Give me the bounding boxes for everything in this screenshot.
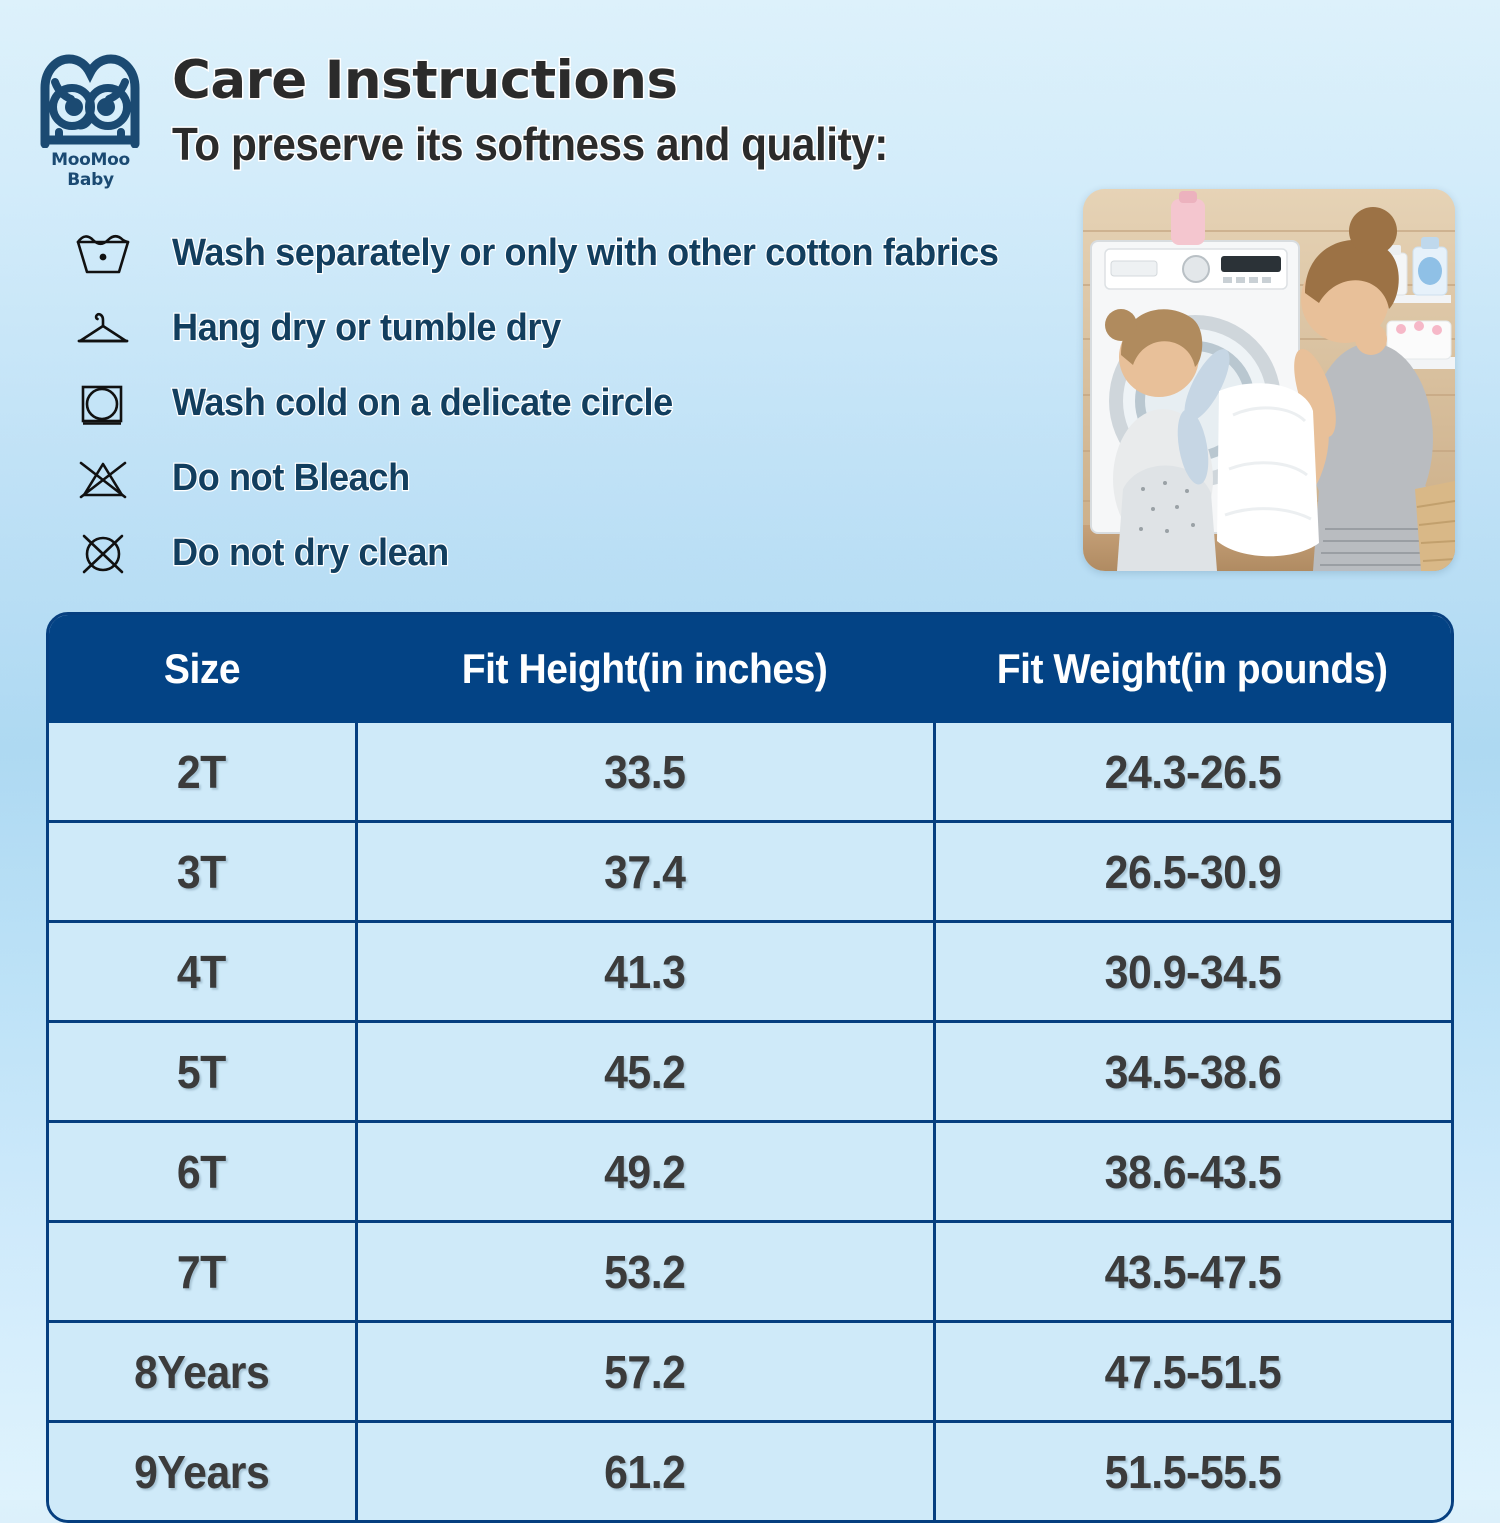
table-row: 2T 33.5 24.3-26.5 (49, 723, 1451, 822)
table-body: 2T 33.5 24.3-26.5 3T 37.4 26.5-30.9 4T 4… (49, 723, 1451, 1520)
cell-fit-weight: 51.5-55.5 (934, 1422, 1451, 1521)
cell-fit-weight: 43.5-47.5 (934, 1222, 1451, 1322)
cell-size: 7T (49, 1222, 356, 1322)
table-row: 8Years 57.2 47.5-51.5 (49, 1322, 1451, 1422)
brand-name: MooMoo Baby (28, 150, 153, 190)
cell-size: 9Years (49, 1422, 356, 1521)
cell-fit-height: 33.5 (356, 723, 934, 822)
care-instruction-item: Hang dry or tumble dry (72, 291, 1072, 366)
laundry-photo (1083, 189, 1455, 571)
cell-size: 2T (49, 723, 356, 822)
care-instruction-item: Wash cold on a delicate circle (72, 366, 1072, 441)
page-subtitle: To preserve its softness and quality: (172, 121, 888, 167)
table-row: 7T 53.2 43.5-47.5 (49, 1222, 1451, 1322)
column-header-size: Size (49, 615, 356, 723)
table-row: 6T 49.2 38.6-43.5 (49, 1122, 1451, 1222)
care-instruction-label: Do not dry clean (172, 532, 449, 575)
cell-fit-height: 57.2 (356, 1322, 934, 1422)
cell-fit-height: 41.3 (356, 922, 934, 1022)
column-header-fit-height: Fit Height(in inches) (356, 615, 934, 723)
care-instruction-item: Wash separately or only with other cotto… (72, 216, 1072, 291)
cell-size: 5T (49, 1022, 356, 1122)
table-row: 9Years 61.2 51.5-55.5 (49, 1422, 1451, 1521)
cell-fit-height: 45.2 (356, 1022, 934, 1122)
cell-fit-weight: 47.5-51.5 (934, 1322, 1451, 1422)
table-row: 4T 41.3 30.9-34.5 (49, 922, 1451, 1022)
cell-size: 3T (49, 822, 356, 922)
owl-logo-icon (28, 52, 153, 148)
cell-fit-weight: 30.9-34.5 (934, 922, 1451, 1022)
cell-fit-height: 53.2 (356, 1222, 934, 1322)
care-instruction-label: Wash cold on a delicate circle (172, 382, 673, 425)
table-row: 3T 37.4 26.5-30.9 (49, 822, 1451, 922)
cell-size: 4T (49, 922, 356, 1022)
care-instruction-label: Do not Bleach (172, 457, 410, 500)
cell-fit-weight: 24.3-26.5 (934, 723, 1451, 822)
cell-fit-height: 49.2 (356, 1122, 934, 1222)
care-instructions-page: MooMoo Baby Care Instructions To preserv… (0, 0, 1500, 1500)
care-instruction-label: Hang dry or tumble dry (172, 307, 561, 350)
cell-size: 6T (49, 1122, 356, 1222)
care-instruction-item: Do not dry clean (72, 516, 1072, 591)
do-not-bleach-icon (72, 457, 134, 501)
care-instruction-list: Wash separately or only with other cotto… (72, 216, 1072, 591)
cell-fit-weight: 34.5-38.6 (934, 1022, 1451, 1122)
cell-fit-height: 37.4 (356, 822, 934, 922)
tumble-dry-icon (72, 382, 134, 426)
table-header-row: Size Fit Height(in inches) Fit Weight(in… (49, 615, 1451, 723)
title-block: Care Instructions To preserve its softne… (172, 54, 950, 167)
wash-tub-icon (72, 232, 134, 276)
cell-fit-weight: 38.6-43.5 (934, 1122, 1451, 1222)
column-header-fit-weight: Fit Weight(in pounds) (934, 615, 1451, 723)
page-header: MooMoo Baby Care Instructions To preserv… (0, 0, 1500, 190)
hanger-dry-icon (72, 307, 134, 351)
care-instruction-item: Do not Bleach (72, 441, 1072, 516)
table-row: 5T 45.2 34.5-38.6 (49, 1022, 1451, 1122)
cell-fit-weight: 26.5-30.9 (934, 822, 1451, 922)
size-chart-table: Size Fit Height(in inches) Fit Weight(in… (46, 612, 1454, 1523)
do-not-dry-clean-icon (72, 532, 134, 576)
cell-fit-height: 61.2 (356, 1422, 934, 1521)
cell-size: 8Years (49, 1322, 356, 1422)
page-title: Care Instructions (172, 54, 950, 107)
care-instruction-label: Wash separately or only with other cotto… (172, 232, 999, 275)
brand-logo: MooMoo Baby (28, 52, 153, 177)
